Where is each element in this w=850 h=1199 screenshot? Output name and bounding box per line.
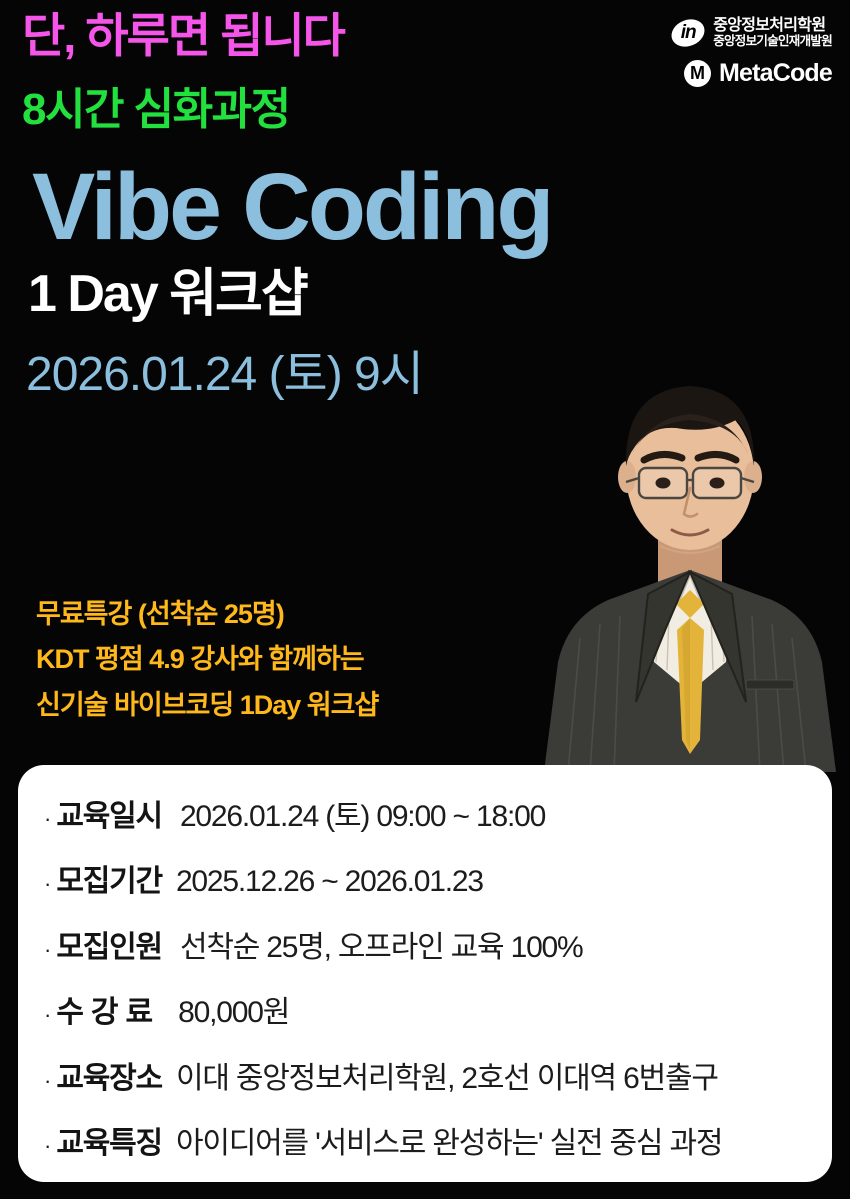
promo-block: 무료특강 (선착순 25명) KDT 평점 4.9 강사와 함께하는 신기술 바… bbox=[36, 592, 536, 728]
academy-logo-text: 중앙정보처리학원 중앙정보기술인재개발원 bbox=[713, 18, 832, 47]
info-row-tuition: · 수강료 80,000원 bbox=[18, 987, 832, 1031]
metacode-logo-label: MetaCode bbox=[719, 59, 832, 88]
info-row-location: · 교육장소 이대 중앙정보처리학원, 2호선 이대역 6번출구 bbox=[18, 1053, 832, 1097]
logo-stack: in 중앙정보처리학원 중앙정보기술인재개발원 M MetaCode bbox=[662, 16, 832, 88]
info-row-capacity: · 모집인원 선착순 25명, 오프라인 교육 100% bbox=[18, 922, 832, 966]
info-label-tuition: 수강료 bbox=[56, 987, 160, 1031]
info-label-location: 교육장소 bbox=[56, 1053, 162, 1097]
info-row-schedule: · 교육일시 2026.01.24 (토) 09:00 ~ 18:00 bbox=[18, 791, 832, 835]
info-value-capacity: 선착순 25명, 오프라인 교육 100% bbox=[180, 922, 583, 966]
info-value-application-period: 2025.12.26 ~ 2026.01.23 bbox=[176, 865, 483, 899]
info-value-features: 아이디어를 '서비스로 완성하는' 실전 중심 과정 bbox=[176, 1118, 722, 1162]
tagline-green: 8시간 심화과정 bbox=[22, 85, 682, 136]
headline-block: 단, 하루면 됩니다 8시간 심화과정 Vibe Coding 1 Day 워크… bbox=[22, 8, 682, 402]
info-label-schedule: 교육일시 bbox=[56, 791, 162, 835]
academy-logo-line1: 중앙정보처리학원 bbox=[713, 18, 832, 34]
info-card: · 교육일시 2026.01.24 (토) 09:00 ~ 18:00 · 모집… bbox=[18, 765, 832, 1182]
poster-root: in 중앙정보처리학원 중앙정보기술인재개발원 M MetaCode 단, 하루… bbox=[0, 0, 850, 1199]
info-label-features: 교육특징 bbox=[56, 1118, 162, 1162]
info-label-capacity: 모집인원 bbox=[56, 922, 162, 966]
row-bullet-icon: · bbox=[44, 1135, 51, 1157]
info-value-location: 이대 중앙정보처리학원, 2호선 이대역 6번출구 bbox=[176, 1053, 718, 1097]
row-bullet-icon: · bbox=[44, 939, 51, 961]
promo-line-2: KDT 평점 4.9 강사와 함께하는 bbox=[36, 637, 536, 682]
academy-logo-line2: 중앙정보기술인재개발원 bbox=[713, 35, 832, 48]
row-bullet-icon: · bbox=[44, 1070, 51, 1092]
row-bullet-icon: · bbox=[44, 873, 51, 895]
page-title: Vibe Coding bbox=[32, 158, 682, 258]
promo-line-3: 신기술 바이브코딩 1Day 워크샵 bbox=[36, 683, 536, 728]
metacode-logo: M MetaCode bbox=[684, 59, 832, 88]
promo-line-1: 무료특강 (선착순 25명) bbox=[36, 592, 536, 637]
row-bullet-icon: · bbox=[44, 1004, 51, 1026]
tagline-pink: 단, 하루면 됩니다 bbox=[22, 8, 682, 63]
page-subtitle: 1 Day 워크샵 bbox=[28, 266, 682, 323]
info-row-features: · 교육특징 아이디어를 '서비스로 완성하는' 실전 중심 과정 bbox=[18, 1118, 832, 1162]
info-label-application-period: 모집기간 bbox=[56, 856, 162, 900]
metacode-logo-icon: M bbox=[684, 60, 711, 87]
instructor-portrait bbox=[540, 362, 840, 772]
info-value-schedule: 2026.01.24 (토) 09:00 ~ 18:00 bbox=[180, 791, 545, 835]
info-value-tuition: 80,000원 bbox=[178, 987, 289, 1031]
info-row-application-period: · 모집기간 2025.12.26 ~ 2026.01.23 bbox=[18, 856, 832, 900]
row-bullet-icon: · bbox=[44, 808, 51, 830]
academy-logo: in 중앙정보처리학원 중앙정보기술인재개발원 bbox=[671, 16, 832, 50]
